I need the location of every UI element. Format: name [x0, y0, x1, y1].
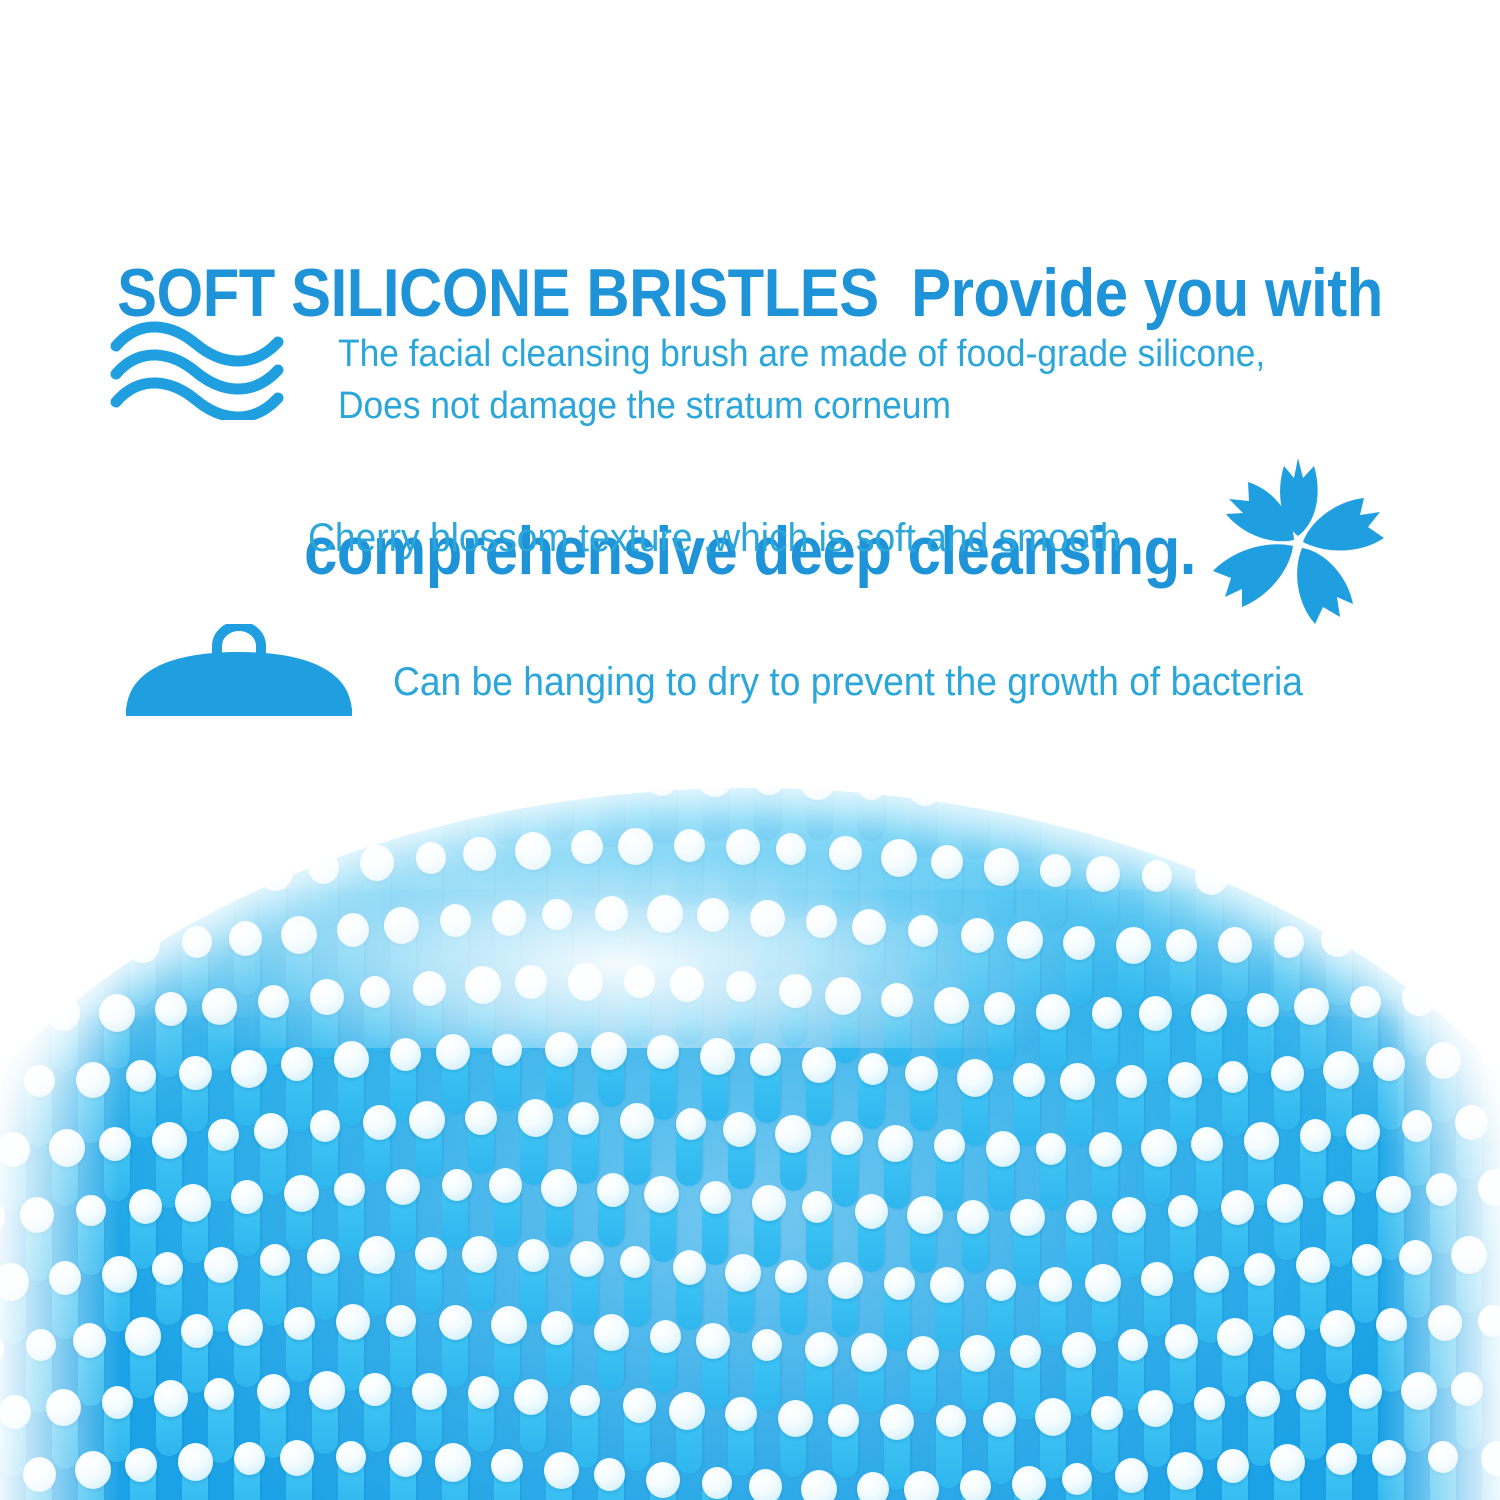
bristle-tip	[570, 1241, 604, 1277]
bristle-tip	[700, 1038, 735, 1075]
bristle-tip	[905, 1056, 938, 1091]
bristle-tip	[907, 1336, 939, 1370]
bristle-tip	[0, 1395, 31, 1429]
bristle-tip	[310, 979, 344, 1015]
bristle-tip	[0, 788, 7, 822]
bristle-tip	[440, 904, 471, 937]
bristle-tip	[670, 966, 704, 1002]
bristle-tip	[0, 997, 30, 1029]
bristle-tip	[1222, 793, 1253, 826]
bristle-tip	[386, 1305, 416, 1337]
bristle	[260, 788, 286, 802]
bristle-tip	[1115, 1458, 1148, 1493]
bristle-tip	[1116, 927, 1151, 964]
bristle-tip	[1452, 977, 1482, 1009]
bristle-tip	[646, 1462, 680, 1498]
bristle-tip	[126, 1060, 156, 1092]
bristle-tip	[1091, 1396, 1123, 1430]
bristle-tip	[1349, 1374, 1382, 1409]
bristle-tip	[102, 1256, 137, 1293]
bristle-tip	[518, 1099, 553, 1136]
bristle-tip	[541, 1169, 577, 1207]
bristle-tip	[182, 926, 212, 958]
bristle-tip	[1352, 1244, 1382, 1276]
bristle-tip	[359, 1373, 391, 1407]
bristle-tip	[1221, 1190, 1254, 1225]
bristle-tip	[24, 1065, 55, 1098]
bristle-tip	[960, 1470, 991, 1500]
feature-text-texture-line-1: Cherry blossom texture ,which is soft an…	[308, 512, 1121, 564]
bristle-tip	[591, 1032, 627, 1070]
bristle-tip	[280, 1440, 314, 1476]
bristle-tip	[1010, 1199, 1045, 1236]
bristle-tip	[936, 1405, 966, 1437]
bristle-tip	[1112, 1197, 1146, 1233]
bristle-tip	[1118, 1329, 1148, 1361]
bristle-tip	[462, 1236, 497, 1273]
bristle-tip	[623, 1388, 656, 1423]
bristle-tip	[1168, 1195, 1198, 1227]
bristle-tip	[1373, 917, 1409, 955]
bristle-tip	[908, 915, 938, 947]
bristle-tip	[624, 965, 655, 998]
bristle-tip	[436, 1034, 470, 1070]
bristle-tip	[1089, 1132, 1122, 1167]
bristle-tip	[281, 916, 317, 954]
bristle-tip	[1429, 914, 1461, 948]
bristle-tip	[47, 996, 80, 1031]
bristle-tip	[416, 842, 446, 874]
bristle-tip	[1167, 1452, 1203, 1490]
bristle	[364, 788, 390, 791]
bristle-tip	[1062, 1332, 1096, 1368]
bristle-tip	[1294, 988, 1329, 1025]
bristle-tip	[673, 1250, 706, 1285]
bristle	[1144, 788, 1170, 803]
bristle-tip	[594, 1458, 625, 1491]
feature-text-silicone-line-2: Does not damage the stratum corneum	[338, 380, 1265, 432]
bristle	[1300, 788, 1326, 802]
bristle-tip	[178, 1443, 213, 1480]
bristle-tip	[1010, 1335, 1041, 1368]
bristle-tip	[389, 1442, 422, 1477]
bristle-tip	[725, 1254, 761, 1292]
bristle-tip	[726, 971, 756, 1003]
bristle-tip	[202, 988, 237, 1025]
product-feature-page: SOFT SILICONE BRISTLES Provide you with …	[0, 0, 1500, 1500]
bristle-tip	[750, 900, 785, 937]
bristle-tip	[175, 1184, 211, 1222]
bristle-tip	[1040, 854, 1071, 887]
bristle-tip	[1217, 1318, 1253, 1356]
bristle-tip	[544, 1452, 579, 1489]
bristle-tip	[828, 1404, 859, 1437]
bristle-tip	[1116, 1065, 1147, 1098]
bristle-tip	[1323, 1181, 1355, 1215]
bristle-tip	[336, 1441, 366, 1473]
bristle-tip	[594, 1314, 629, 1351]
bristle-tip	[359, 1236, 395, 1274]
bristle-tip	[26, 1329, 56, 1361]
bristle-tip	[46, 1389, 81, 1426]
bristle-tip	[1426, 1173, 1457, 1206]
bristle-tip	[541, 1311, 573, 1345]
bristle-tip	[24, 927, 59, 964]
bristle-tip	[415, 1237, 447, 1271]
bristle-tip	[442, 1169, 472, 1201]
bristle	[650, 788, 676, 844]
bristle-tip	[228, 1309, 263, 1346]
bristle-tip	[542, 899, 572, 931]
bristle-tip	[1166, 790, 1201, 827]
bristle-tip	[1142, 860, 1172, 892]
bristle-tip	[1241, 859, 1277, 897]
bristle-tip	[50, 860, 80, 892]
bristle-tip	[384, 907, 419, 944]
bristle-tip	[618, 828, 653, 865]
bristle-tip	[179, 1056, 212, 1091]
bristle-tip	[1195, 860, 1228, 895]
silicone-pad-dome	[0, 788, 1500, 1500]
bristle-tip	[435, 1443, 471, 1481]
bristle-tip	[234, 1442, 265, 1475]
bristle-tip	[334, 1173, 365, 1206]
bristle-tip	[1271, 1056, 1304, 1091]
bristle-tip	[1401, 1372, 1437, 1410]
bristle-tip	[568, 1102, 599, 1135]
bristle-tip	[1194, 1256, 1229, 1293]
feature-text-silicone-line-1: The facial cleansing brush are made of f…	[338, 328, 1265, 380]
bristle-tip	[1321, 922, 1354, 957]
bristle-tip	[439, 1305, 472, 1340]
bristle-tip	[258, 854, 293, 891]
bristle-tip	[413, 971, 446, 1006]
bristle-tip	[1039, 1267, 1072, 1302]
bristle-tip	[752, 1329, 782, 1361]
bristle-tip	[960, 1335, 995, 1372]
bristle-tip	[1376, 1308, 1407, 1341]
bristle-tip	[76, 1195, 106, 1227]
bristle-tip	[676, 1108, 706, 1140]
bristle-tip	[884, 1267, 915, 1300]
bristle-tip	[986, 1131, 1020, 1167]
bristle-tip	[1063, 926, 1095, 960]
bristle-tip	[409, 1101, 445, 1139]
bristle-tip	[23, 1457, 56, 1492]
bristle-tip	[285, 788, 318, 822]
bristle	[1352, 788, 1378, 799]
bristle-tip	[204, 1378, 234, 1410]
bristle-tip	[125, 1317, 161, 1355]
bristle-tip	[1428, 1441, 1458, 1473]
bristle-tip	[1399, 1240, 1432, 1275]
bristle-tip	[99, 994, 135, 1032]
bristle-tip	[984, 992, 1015, 1025]
bristle-tip	[231, 1050, 267, 1088]
bristle-tip	[1455, 1105, 1488, 1140]
bristle-tip	[390, 1038, 421, 1071]
bristle-tip	[0, 926, 3, 960]
bristle-tip	[284, 1175, 319, 1212]
bristle-tip	[1036, 994, 1070, 1030]
bristle-tip	[1062, 1463, 1092, 1495]
bristle-tip	[1350, 854, 1385, 891]
bristle-tip	[858, 1053, 888, 1085]
bristle-tip	[934, 987, 969, 1024]
bristle-tip	[1323, 1051, 1359, 1089]
bristle-tip	[700, 1181, 731, 1214]
bristle-tip	[204, 1247, 238, 1283]
bristle-tip	[518, 1239, 549, 1272]
bristle-tip	[254, 1113, 288, 1149]
bristle-tip	[644, 1176, 679, 1213]
bristle-tip	[831, 1121, 863, 1155]
bristle-tip	[1013, 1063, 1045, 1097]
bristle-tip	[208, 1119, 239, 1152]
bristle	[52, 788, 78, 794]
bristle-tip	[257, 1374, 290, 1409]
bristle-tip	[463, 837, 496, 872]
bristle-tip	[1191, 994, 1227, 1032]
bristle-tip	[961, 918, 994, 953]
bristle-tip	[957, 1059, 993, 1097]
bristle-tip	[1376, 1176, 1411, 1213]
bristle-tip	[73, 1323, 106, 1358]
product-image	[0, 760, 1500, 1500]
bristle-tip	[1300, 1119, 1331, 1152]
bristle-tip	[465, 966, 501, 1004]
bristle-tip	[1273, 1315, 1305, 1349]
bristle-tip	[155, 992, 187, 1026]
bristle-tip	[260, 1244, 290, 1276]
bristle-tip	[102, 1386, 133, 1419]
bristle-tip	[1138, 1390, 1173, 1427]
bristle-tip	[281, 1047, 313, 1081]
bristle-tip	[1218, 927, 1252, 963]
bristle-tip	[931, 845, 963, 879]
bristle-tip	[1402, 980, 1436, 1016]
feature-text-silicone: The facial cleansing brush are made of f…	[338, 328, 1335, 432]
bristle-tip	[489, 1168, 522, 1203]
bristle-tip	[802, 1191, 832, 1223]
bristle-tip	[309, 1371, 345, 1409]
bristle-tip	[1320, 1310, 1355, 1347]
bristle-tip	[647, 895, 683, 933]
bristle-tip	[76, 1062, 110, 1098]
bristle-tip	[778, 1400, 813, 1437]
cherry-blossom-icon	[1198, 450, 1398, 625]
bristle-tip	[363, 1105, 396, 1140]
bristle-tip	[1428, 1305, 1462, 1341]
bristle-tip	[1297, 858, 1329, 892]
bristle-tip	[514, 1379, 548, 1415]
bristle-tip	[1267, 1184, 1303, 1222]
bristle-tip	[74, 790, 109, 827]
bristle-tip	[1141, 1129, 1177, 1167]
bristle-tip	[1085, 1264, 1121, 1302]
bristle-tip	[491, 1449, 523, 1483]
bristle-tip	[0, 1132, 30, 1167]
bristle-tip	[49, 1261, 81, 1295]
bristle-tip	[1296, 1379, 1326, 1411]
feature-text-hanging-line-1: Can be hanging to dry to prevent the gro…	[393, 656, 1303, 708]
bristle-tip	[1350, 986, 1381, 1019]
bristle-tip	[1426, 1042, 1461, 1079]
bristle-tip	[412, 1373, 447, 1410]
bristle-tip	[152, 1122, 187, 1159]
bristle-tip	[1244, 1122, 1279, 1159]
bristle-tip	[1326, 1443, 1357, 1476]
bristle-tip	[1063, 788, 1099, 822]
bristle-tip	[99, 1127, 131, 1161]
bristle-tip	[802, 1047, 836, 1083]
bristle-tip	[465, 1101, 497, 1135]
bristle-tip	[934, 1129, 965, 1162]
bristle-tip	[1346, 1114, 1380, 1150]
bristle-tip	[49, 1129, 85, 1167]
bristle-tip	[723, 1112, 756, 1147]
bristle-tip	[1218, 1061, 1248, 1093]
bristle-tip	[801, 1470, 837, 1500]
bristle-tip	[1035, 1398, 1071, 1436]
bristle-tip	[825, 977, 861, 1015]
bristle-tip	[1247, 993, 1279, 1027]
bristle-tip	[697, 898, 729, 932]
bristle-tip	[852, 909, 886, 945]
bristle-tip	[805, 1332, 838, 1367]
bristle-tip	[1372, 1440, 1406, 1476]
bristle-tip	[205, 858, 237, 892]
bristle-tip	[1194, 1387, 1225, 1420]
bristle-tip	[568, 963, 603, 1000]
bristle-tip	[386, 1169, 420, 1205]
bristle-tip	[806, 905, 837, 938]
bristle	[416, 788, 442, 798]
bristle-tip	[570, 1385, 600, 1417]
bristle-tip	[308, 851, 339, 884]
bristle-tip	[775, 1260, 807, 1294]
bristle-tip	[334, 1041, 369, 1078]
bristle-tip	[1066, 1200, 1097, 1233]
bristle-tip	[957, 1200, 989, 1234]
bristle-tip	[986, 1269, 1016, 1301]
bristle-tip	[650, 1320, 681, 1353]
bristle-tip	[828, 1262, 863, 1299]
bristle-tip	[229, 921, 262, 956]
bristle-tip	[752, 1185, 786, 1221]
bristle-tip	[749, 1469, 782, 1500]
bristle-tip	[491, 1306, 527, 1344]
bristle-tip	[1141, 1262, 1173, 1296]
bristle-tip	[21, 789, 53, 823]
bristle-tip	[545, 1032, 578, 1067]
bristle-tip	[468, 1376, 499, 1409]
bristle-tip	[1217, 1449, 1249, 1483]
bristle-tip	[878, 1125, 913, 1162]
bristle-tip	[307, 1239, 340, 1274]
bristle-tip	[881, 983, 913, 1017]
bristle-tip	[360, 976, 390, 1008]
bristle-tip	[1400, 852, 1431, 885]
feature-row-texture: Cherry blossom texture ,which is soft an…	[300, 450, 1460, 625]
bristle-tip	[674, 829, 705, 862]
bristle-tip	[75, 1451, 111, 1489]
bristle-tip	[857, 1472, 889, 1500]
bristle-tip	[336, 1304, 370, 1340]
hanging-dome-icon	[120, 624, 370, 722]
bristle-tip	[1139, 996, 1172, 1031]
bristle-tip	[1270, 1444, 1305, 1481]
bristle-tip	[829, 836, 862, 871]
bristle-tip	[855, 1194, 888, 1229]
bristle-tip	[620, 1246, 650, 1278]
bristle-tip	[1166, 929, 1197, 962]
bristle-tip	[152, 1252, 183, 1285]
bristle-tip	[881, 839, 917, 877]
bristle-tip	[779, 974, 812, 1009]
bristle-tip	[1377, 788, 1410, 823]
bristle-tip	[492, 1034, 522, 1066]
bristle-tip	[1165, 1324, 1198, 1359]
feature-text-hanging: Can be hanging to dry to prevent the gro…	[393, 656, 1371, 708]
bristle-tip	[571, 830, 603, 864]
bristle	[754, 788, 780, 840]
bristle-tip	[983, 1402, 1016, 1437]
bristle-tip	[1478, 1305, 1500, 1337]
bristle-tip	[149, 858, 185, 896]
bristle-tip	[284, 1307, 315, 1340]
bristle-tip	[750, 1043, 781, 1076]
bristle-tip	[1246, 1381, 1280, 1417]
bristle-tip	[337, 913, 369, 947]
bristle-tip	[154, 1380, 188, 1416]
bristle-tip	[1268, 792, 1302, 828]
bristle-tip	[258, 985, 289, 1018]
feature-text-texture: Cherry blossom texture ,which is soft an…	[308, 512, 1182, 564]
bristle-tip	[851, 1333, 887, 1371]
bristle-tip	[1092, 997, 1122, 1029]
bristle-tip	[515, 832, 551, 870]
bristle	[208, 788, 234, 805]
bristle-tip	[984, 848, 1019, 885]
bristle-tip	[1274, 926, 1304, 958]
bristle-tip	[130, 793, 161, 826]
bristle-tip	[103, 860, 136, 895]
bristle-tip	[1452, 846, 1486, 882]
bristle-tip	[880, 1404, 914, 1440]
bristle-tip	[74, 929, 105, 962]
bristle-tip	[669, 1392, 705, 1430]
bristle-tip	[776, 833, 806, 865]
bristle-tip	[1036, 1133, 1066, 1165]
bristle-tip	[595, 896, 628, 931]
bristle-tip	[126, 927, 160, 963]
feature-row-silicone: The facial cleansing brush are made of f…	[110, 312, 1440, 432]
bristle-tip	[20, 1197, 54, 1233]
bristle-tip	[125, 1448, 157, 1482]
feature-row-hanging: Can be hanging to dry to prevent the gro…	[110, 618, 1440, 728]
bristle-tip	[1402, 1110, 1432, 1142]
bristle-tip	[907, 1196, 943, 1234]
bristle-tip	[1012, 1466, 1046, 1500]
bristle-tip	[232, 791, 262, 823]
bristle-tip	[1244, 1253, 1275, 1286]
bristle-tip	[1060, 1063, 1095, 1100]
waves-icon	[110, 320, 290, 420]
bristle-tip	[1324, 792, 1354, 824]
bristle-tip	[904, 1471, 939, 1500]
bristle-tip	[129, 1189, 162, 1224]
